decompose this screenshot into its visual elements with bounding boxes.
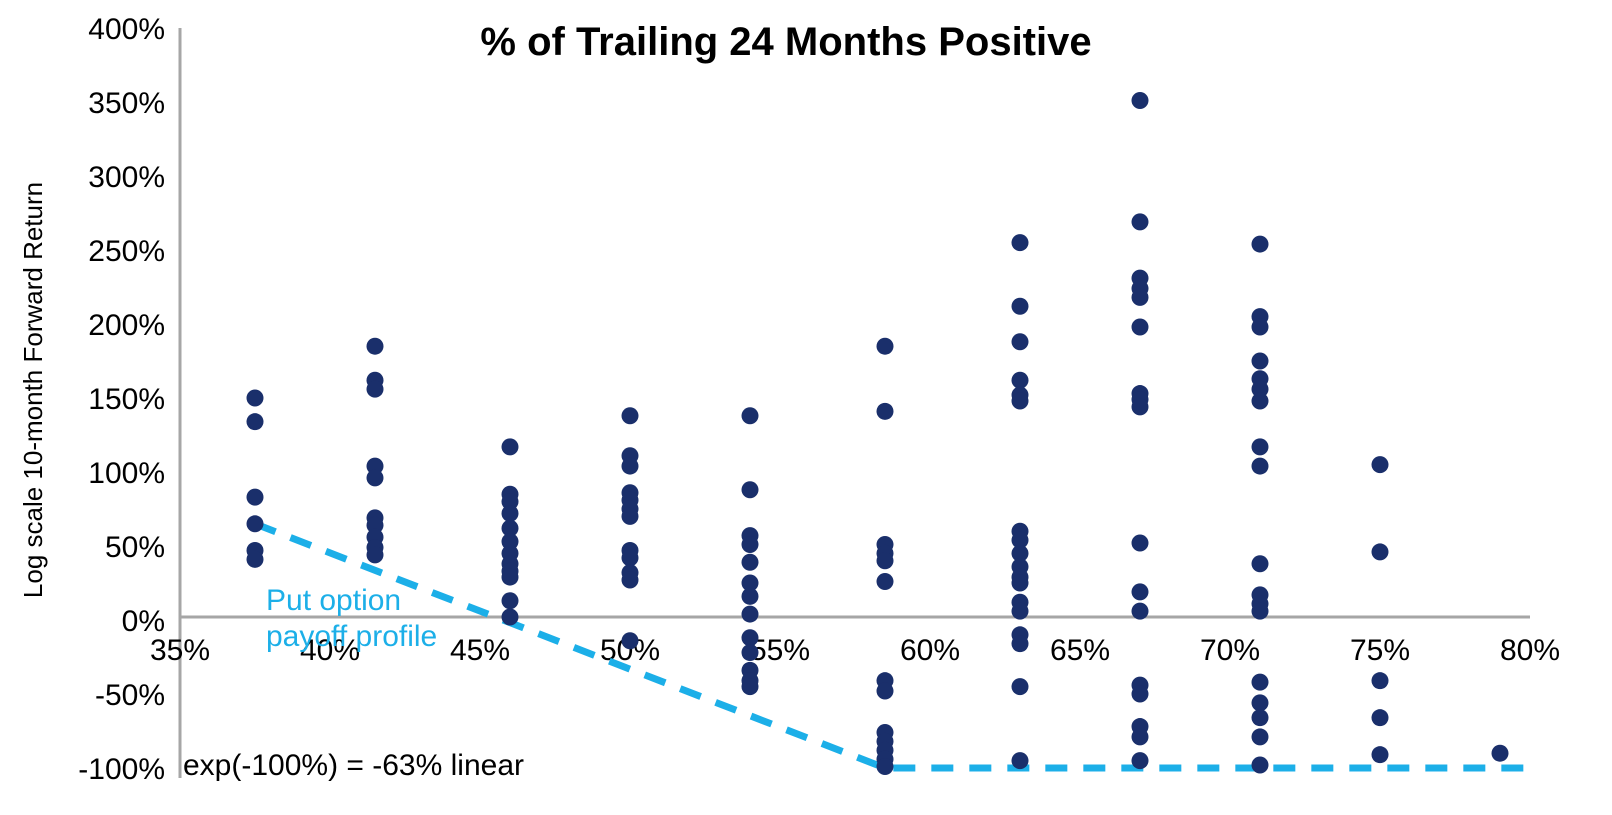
data-point xyxy=(742,644,759,661)
data-point xyxy=(367,381,384,398)
data-point xyxy=(367,546,384,563)
data-point xyxy=(1132,728,1149,745)
data-point xyxy=(742,407,759,424)
data-point xyxy=(502,592,519,609)
data-point xyxy=(1252,392,1269,409)
put-option-label-line2: payoff profile xyxy=(266,620,437,653)
data-point xyxy=(877,683,894,700)
x-tick-label: 55% xyxy=(750,634,810,667)
data-point xyxy=(1132,752,1149,769)
data-point xyxy=(1132,213,1149,230)
data-point xyxy=(622,549,639,566)
data-point xyxy=(1012,392,1029,409)
y-axis-title: Log scale 10-month Forward Return xyxy=(18,182,48,598)
x-tick-label: 65% xyxy=(1050,634,1110,667)
data-point xyxy=(1372,709,1389,726)
data-point xyxy=(742,629,759,646)
data-point xyxy=(1252,318,1269,335)
x-tick-label: 75% xyxy=(1350,634,1410,667)
data-point xyxy=(1252,674,1269,691)
data-point xyxy=(877,758,894,775)
data-point xyxy=(742,678,759,695)
exp-note-label: exp(-100%) = -63% linear xyxy=(183,749,524,782)
data-point xyxy=(877,552,894,569)
scatter-chart: % of Trailing 24 Months Positive Log sca… xyxy=(0,0,1612,815)
data-point xyxy=(742,536,759,553)
data-point xyxy=(1132,686,1149,703)
data-point xyxy=(1012,333,1029,350)
y-tick-label: -50% xyxy=(95,679,165,712)
data-point xyxy=(1252,236,1269,253)
data-point xyxy=(502,569,519,586)
y-tick-label: 400% xyxy=(88,13,165,46)
data-point xyxy=(1132,398,1149,415)
data-point xyxy=(1492,745,1509,762)
x-tick-label: 60% xyxy=(900,634,960,667)
data-point xyxy=(877,573,894,590)
data-point xyxy=(1132,289,1149,306)
data-point xyxy=(1012,678,1029,695)
data-point xyxy=(742,554,759,571)
data-point xyxy=(247,551,264,568)
data-point xyxy=(1252,757,1269,774)
x-tick-label: 70% xyxy=(1200,634,1260,667)
data-point xyxy=(1372,456,1389,473)
x-tick-label: 35% xyxy=(150,634,210,667)
data-point xyxy=(1012,372,1029,389)
data-point xyxy=(622,458,639,475)
data-point xyxy=(1372,672,1389,689)
data-point xyxy=(622,632,639,649)
data-point xyxy=(1252,694,1269,711)
chart-container: % of Trailing 24 Months Positive Log sca… xyxy=(0,0,1612,815)
data-point xyxy=(622,508,639,525)
data-point xyxy=(247,489,264,506)
data-point xyxy=(622,572,639,589)
data-point xyxy=(1252,458,1269,475)
data-point xyxy=(742,588,759,605)
data-point xyxy=(247,413,264,430)
data-point xyxy=(1012,752,1029,769)
data-point xyxy=(502,609,519,626)
data-point xyxy=(1252,438,1269,455)
data-point xyxy=(742,481,759,498)
data-point xyxy=(1252,728,1269,745)
chart-title: % of Trailing 24 Months Positive xyxy=(480,20,1091,64)
chart-background xyxy=(0,0,1612,815)
data-point xyxy=(1132,535,1149,552)
y-tick-label: 200% xyxy=(88,309,165,342)
y-tick-label: 300% xyxy=(88,161,165,194)
data-point xyxy=(877,338,894,355)
data-point xyxy=(1132,583,1149,600)
data-point xyxy=(1012,575,1029,592)
y-tick-label: 100% xyxy=(88,457,165,490)
x-tick-label: 80% xyxy=(1500,634,1560,667)
data-point xyxy=(1012,603,1029,620)
data-point xyxy=(247,515,264,532)
data-point xyxy=(1132,92,1149,109)
data-point xyxy=(367,338,384,355)
data-point xyxy=(367,469,384,486)
data-point xyxy=(1252,709,1269,726)
data-point xyxy=(877,403,894,420)
data-point xyxy=(1132,603,1149,620)
data-point xyxy=(502,438,519,455)
data-point xyxy=(1372,543,1389,560)
data-point xyxy=(1372,746,1389,763)
y-tick-label: -100% xyxy=(78,753,165,786)
y-tick-label: 50% xyxy=(105,531,165,564)
data-point xyxy=(502,505,519,522)
data-point xyxy=(1252,603,1269,620)
data-point xyxy=(1132,318,1149,335)
y-tick-label: 350% xyxy=(88,87,165,120)
data-point xyxy=(247,390,264,407)
data-point xyxy=(1012,234,1029,251)
y-tick-label: 150% xyxy=(88,383,165,416)
data-point xyxy=(1012,298,1029,315)
data-point xyxy=(1012,635,1029,652)
x-tick-label: 45% xyxy=(450,634,510,667)
data-point xyxy=(1252,555,1269,572)
y-tick-label: 250% xyxy=(88,235,165,268)
data-point xyxy=(742,606,759,623)
put-option-label-line1: Put option xyxy=(266,584,401,617)
data-point xyxy=(622,407,639,424)
data-point xyxy=(1252,353,1269,370)
